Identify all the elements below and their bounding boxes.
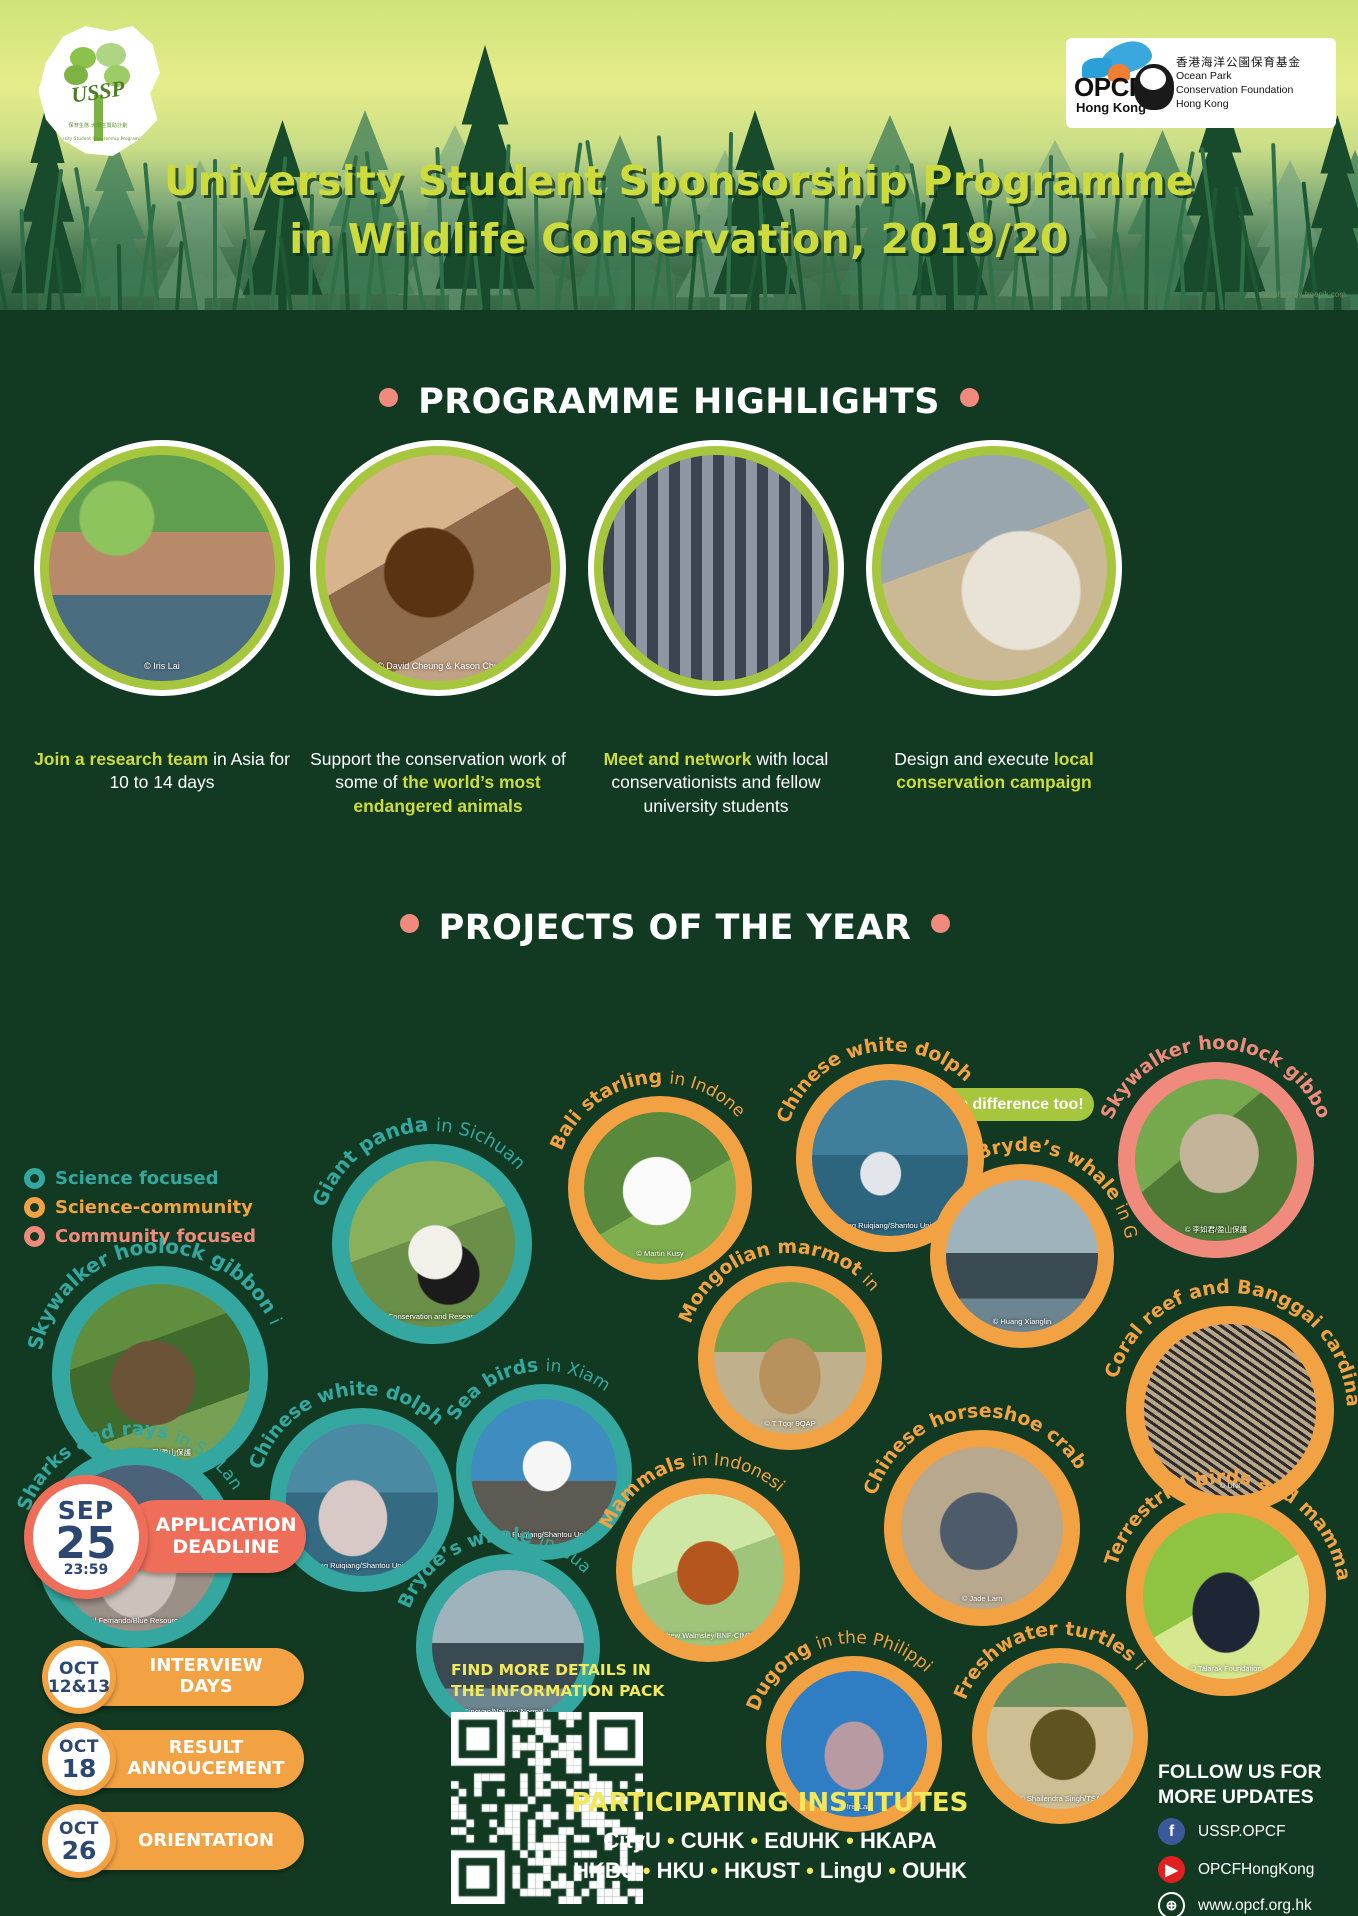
opcf-logo: OPCF Hong Kong 香港海洋公園保育基金 Ocean Park Con… — [1066, 38, 1336, 128]
highlight-ring — [872, 446, 1116, 690]
timeline-day: 26 — [62, 1839, 97, 1863]
opcf-city: Hong Kong — [1076, 100, 1146, 115]
photo-credit: © China Conservation and Research Centre — [349, 1312, 515, 1321]
photo-credit: © 李如君/盈山保護 — [1135, 1224, 1297, 1235]
participating-institutes-title: PARTICIPATING INSTITUTES — [560, 1788, 980, 1818]
separator-dot: • — [744, 1828, 764, 1853]
project-circle: © Talarak Foundation — [1126, 1496, 1326, 1696]
project-photo: © Martin Kusy — [584, 1112, 736, 1264]
institute-name: OUHK — [902, 1858, 967, 1883]
project-photo: © Shailendra Singh/TSA — [987, 1663, 1133, 1809]
highlight-photo: © David Cheung & Kason Chu — [325, 455, 551, 681]
section-heading-highlights: PROGRAMME HIGHLIGHTS — [0, 382, 1358, 422]
institute-name: CityU — [603, 1828, 660, 1853]
timeline-date-0: OCT12&13 — [42, 1640, 116, 1714]
logo-leaf-shape — [96, 43, 126, 67]
opcf-name-line2: Conservation Foundation — [1176, 84, 1301, 98]
photo-credit: © Shailendra Singh/TSA — [987, 1794, 1133, 1803]
deadline-label-1: APPLICATION — [156, 1515, 297, 1537]
photo-credit: © Iris Lai — [49, 661, 275, 671]
project-circle: © 李如君/盈山保護 — [52, 1266, 268, 1482]
timeline-date-2: OCT26 — [42, 1804, 116, 1878]
opcf-name-line1: Ocean Park — [1176, 70, 1301, 84]
timeline-label-1: ORIENTATION — [138, 1831, 274, 1852]
project-circle: © Chen Bingyao/Nanjing Normal University — [416, 1554, 600, 1738]
highlight-caption: Meet and network with local conservation… — [581, 748, 851, 818]
separator-dot: • — [637, 1858, 657, 1883]
page-title: University Student Sponsorship Programme… — [0, 152, 1358, 268]
legend-item-1: Science-community — [24, 1197, 256, 1218]
qr-heading-line-2: THE INFORMATION PACK — [451, 1681, 671, 1702]
date-disc: OCT12&13 — [48, 1646, 110, 1708]
highlight-circle: © Iris Lai — [34, 440, 290, 696]
project-circle: © Zheng Ruiqiang/Shantou University — [270, 1408, 454, 1592]
project-photo: © 李如君/盈山保護 — [1135, 1079, 1297, 1241]
ussp-logo-chinese: 保育生態 大學生贊助計劃 — [50, 122, 146, 129]
project-circle: © T Tqqr 9QAP — [698, 1266, 882, 1450]
bullet-dot-icon — [379, 388, 398, 407]
institute-name: LingU — [820, 1858, 882, 1883]
timeline-label-1: RESULT — [127, 1738, 284, 1759]
caption-emphasis: Join a research team — [34, 749, 208, 769]
separator-dot: • — [704, 1858, 724, 1883]
separator-dot: • — [661, 1828, 681, 1853]
youtube-icon[interactable]: ▶ — [1158, 1856, 1185, 1883]
legend-ring-icon — [24, 1226, 45, 1247]
poster-root: USSP 保育生態 大學生贊助計劃 University Student Spo… — [0, 0, 1358, 1916]
title-line-1: University Student Sponsorship Programme — [0, 152, 1358, 210]
separator-dot: • — [840, 1828, 860, 1853]
legend-label: Community focused — [55, 1226, 256, 1247]
project-circle: © 李如君/盈山保護 — [1118, 1062, 1314, 1258]
title-line-2: in Wildlife Conservation, 2019/20 — [0, 210, 1358, 268]
institute-name: HKBU — [573, 1858, 637, 1883]
project-photo: © Zheng Ruiqiang/Shantou University — [286, 1424, 438, 1576]
photo-credit: © Jade Lam — [901, 1594, 1063, 1603]
legend-item-0: Science focused — [24, 1168, 256, 1189]
project-photo: © T Tqqr 9QAP — [714, 1282, 866, 1434]
separator-dot: • — [882, 1858, 902, 1883]
opcf-logo-mark: OPCF Hong Kong — [1074, 42, 1170, 124]
project-circle: © Huang Xianglin — [930, 1164, 1114, 1348]
follow-line-2: MORE UPDATES — [1158, 1785, 1358, 1810]
poster-header: USSP 保育生態 大學生贊助計劃 University Student Spo… — [0, 0, 1358, 310]
deadline-time: 23:59 — [64, 1562, 109, 1578]
project-photo: © Zheng Ruiqiang/Shantou University — [471, 1399, 617, 1545]
photo-credit: © Huang Xianglin — [946, 1317, 1098, 1326]
qr-heading: FIND MORE DETAILS IN THE INFORMATION PAC… — [451, 1660, 671, 1702]
project-photo: © Huang Xianglin — [946, 1180, 1098, 1332]
legend-label: Science-community — [55, 1197, 253, 1218]
institute-name: HKAPA — [860, 1828, 937, 1853]
project-photo: © Jade Lam — [901, 1447, 1063, 1609]
highlight-circle — [866, 440, 1122, 696]
freepik-credit: Graphics by freepik.com — [1260, 290, 1346, 299]
highlight-caption: Support the conservation work of some of… — [303, 748, 573, 818]
photo-credit: © Andrew Walmsley/BNF-CIMTROP — [632, 1631, 784, 1640]
date-disc: OCT18 — [48, 1728, 110, 1790]
qr-heading-line-1: FIND MORE DETAILS IN — [451, 1660, 671, 1681]
project-circle: © Zheng Ruiqiang/Shantou University — [456, 1384, 632, 1560]
opcf-logo-text: 香港海洋公園保育基金 Ocean Park Conservation Found… — [1176, 55, 1301, 112]
highlight-ring: © Iris Lai — [40, 446, 284, 690]
photo-credit: © T Tqqr 9QAP — [714, 1419, 866, 1428]
highlight-photo: © Iris Lai — [49, 455, 275, 681]
photo-credit: © Talarak Foundation — [1143, 1664, 1309, 1673]
timeline-day: 12&13 — [48, 1679, 110, 1695]
social-handle[interactable]: www.opcf.org.hk — [1198, 1897, 1312, 1915]
project-photo: © UNI — [1144, 1324, 1316, 1496]
social-row-2[interactable]: ⊕www.opcf.org.hk — [1158, 1892, 1312, 1916]
social-row-0[interactable]: fUSSP.OPCF — [1158, 1818, 1286, 1845]
highlight-ring — [594, 446, 838, 690]
globe-icon[interactable]: ⊕ — [1158, 1892, 1185, 1916]
photo-credit: © David Cheung & Kason Chu — [325, 661, 551, 671]
legend-ring-icon — [24, 1168, 45, 1189]
project-circle: © Shailendra Singh/TSA — [972, 1648, 1148, 1824]
ussp-logo-english: University Student Sponsorship Programme — [50, 136, 146, 141]
project-legend: Science focusedScience-communityCommunit… — [24, 1168, 256, 1255]
institute-name: HKU — [657, 1858, 705, 1883]
project-circle: © China Conservation and Research Centre — [332, 1144, 532, 1344]
opcf-chinese-name: 香港海洋公園保育基金 — [1176, 55, 1301, 70]
bullet-dot-icon — [400, 914, 419, 933]
caption-emphasis: Meet and network — [604, 749, 752, 769]
highlight-ring: © David Cheung & Kason Chu — [316, 446, 560, 690]
project-place: in Xiamen — [410, 1338, 614, 1396]
photo-credit: © Zheng Ruiqiang/Shantou University — [286, 1561, 438, 1570]
project-photo: © Talarak Foundation — [1143, 1513, 1309, 1679]
institutes-line-1: CityU • CUHK • EdUHK • HKAPA — [540, 1826, 1000, 1856]
highlight-caption: Design and execute local conservation ca… — [859, 748, 1129, 795]
social-handle[interactable]: USSP.OPCF — [1198, 1823, 1286, 1841]
photo-credit: © Daniel Fernando/Blue Resources Trust — [53, 1616, 219, 1625]
institute-name: CUHK — [681, 1828, 745, 1853]
timeline-label-1: INTERVIEW — [150, 1656, 263, 1677]
institute-name: HKUST — [724, 1858, 800, 1883]
project-place: in Yunnan — [1072, 1016, 1079, 1021]
highlight-caption: Join a research team in Asia for 10 to 1… — [27, 748, 297, 795]
project-circle: © UNI — [1126, 1306, 1334, 1514]
project-photo: © 李如君/盈山保護 — [70, 1284, 250, 1464]
highlight-circle — [588, 440, 844, 696]
deadline-label-2: DEADLINE — [156, 1537, 297, 1559]
facebook-icon[interactable]: f — [1158, 1818, 1185, 1845]
social-row-1[interactable]: ▶OPCFHongKong — [1158, 1856, 1314, 1883]
social-handle[interactable]: OPCFHongKong — [1198, 1861, 1314, 1879]
legend-label: Science focused — [55, 1168, 218, 1189]
section-heading-projects: PROJECTS OF THE YEAR — [150, 908, 1200, 948]
follow-line-1: FOLLOW US FOR — [1158, 1760, 1358, 1785]
separator-dot: • — [800, 1858, 820, 1883]
bullet-dot-icon — [931, 914, 950, 933]
opcf-name-line3: Hong Kong — [1176, 98, 1301, 112]
panda-icon — [1134, 64, 1174, 110]
caption-plain: Design and execute — [894, 749, 1054, 769]
timeline-day: 18 — [62, 1757, 97, 1781]
timeline-date-1: OCT18 — [42, 1722, 116, 1796]
project-circle: © Andrew Walmsley/BNF-CIMTROP — [616, 1478, 800, 1662]
project-place: in the Philippines — [1080, 1450, 1085, 1455]
project-photo: © Andrew Walmsley/BNF-CIMTROP — [632, 1494, 784, 1646]
bullet-dot-icon — [960, 388, 979, 407]
timeline-month: OCT — [59, 1659, 99, 1679]
timeline-label-2: ANNOUCEMENT — [127, 1759, 284, 1780]
date-disc: OCT26 — [48, 1810, 110, 1872]
photo-credit: © UNI — [1144, 1481, 1316, 1490]
timeline-label-2: DAYS — [150, 1677, 263, 1698]
institutes-line-2: HKBU • HKU • HKUST • LingU • OUHK — [540, 1856, 1000, 1886]
follow-us-heading: FOLLOW US FOR MORE UPDATES — [1158, 1760, 1358, 1810]
project-circle: © Jade Lam — [884, 1430, 1080, 1626]
institute-name: EdUHK — [764, 1828, 840, 1853]
legend-ring-icon — [24, 1197, 45, 1218]
legend-item-2: Community focused — [24, 1226, 256, 1247]
highlight-photo — [603, 455, 829, 681]
photo-credit: © Martin Kusy — [584, 1249, 736, 1258]
deadline-day: 25 — [55, 1525, 116, 1562]
highlight-photo — [881, 455, 1107, 681]
application-deadline-date: SEP 25 23:59 — [24, 1475, 148, 1599]
highlight-circle: © David Cheung & Kason Chu — [310, 440, 566, 696]
participating-institutes-list: CityU • CUHK • EdUHK • HKAPA HKBU • HKU … — [540, 1826, 1000, 1885]
projects-heading-text: PROJECTS OF THE YEAR — [439, 908, 912, 948]
photo-credit: © Zheng Ruiqiang/Shantou University — [471, 1530, 617, 1539]
project-photo: © China Conservation and Research Centre — [349, 1161, 515, 1327]
project-circle: © Martin Kusy — [568, 1096, 752, 1280]
highlights-heading-text: PROGRAMME HIGHLIGHTS — [418, 382, 940, 422]
